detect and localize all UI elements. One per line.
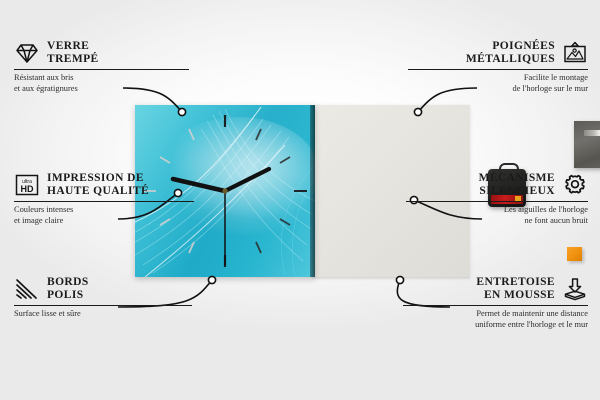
feature-description: Couleurs intenses et image claire: [14, 205, 194, 226]
feature-description: Facilite le montage de l'horloge sur le …: [408, 73, 588, 94]
feature-title: VERRE TREMPÉ: [47, 40, 99, 66]
foam-spacer-icon: [562, 277, 588, 301]
feature-bords-polis: BORDS POLIS Surface lisse et sûre: [14, 276, 192, 320]
feature-divider: [14, 201, 194, 202]
feature-divider: [403, 305, 588, 306]
feature-entretoise-en-mousse: ENTRETOISE EN MOUSSE Permet de maintenir…: [403, 276, 588, 330]
feature-title: POIGNÉES MÉTALLIQUES: [466, 40, 555, 66]
feature-divider: [14, 305, 192, 306]
feature-description: Surface lisse et sûre: [14, 309, 192, 319]
feature-heading-row: VERRE TREMPÉ: [14, 40, 189, 66]
feature-impression-haute-qualite: ultra HD IMPRESSION DE HAUTE QUALITÉ Cou…: [14, 172, 194, 226]
gear-icon: [562, 173, 588, 197]
svg-text:HD: HD: [21, 184, 34, 194]
feature-poignees-metalliques: POIGNÉES MÉTALLIQUES Facilite le montage…: [408, 40, 588, 94]
feature-description: Les aiguilles de l'horloge ne font aucun…: [406, 205, 588, 226]
ultra-hd-icon: ultra HD: [14, 173, 40, 197]
feature-heading-row: MÉCANISME SILENCIEUX: [406, 172, 588, 198]
feature-mecanisme-silencieux: MÉCANISME SILENCIEUX Les aiguilles de l'…: [406, 172, 588, 226]
feature-title: MÉCANISME SILENCIEUX: [479, 172, 555, 198]
feature-heading-row: POIGNÉES MÉTALLIQUES: [408, 40, 588, 66]
foam-spacer-pad: [567, 247, 582, 261]
connector-dot-bords: [208, 276, 215, 283]
feature-heading-row: BORDS POLIS: [14, 276, 192, 302]
feature-verre-trempe: VERRE TREMPÉ Résistant aux bris et aux é…: [14, 40, 189, 94]
feature-description: Permet de maintenir une distance uniform…: [403, 309, 588, 330]
metal-hanger-plate: [574, 121, 600, 168]
feature-description: Résistant aux bris et aux égratignures: [14, 73, 189, 94]
polished-edges-icon: [14, 277, 40, 301]
hanger-keyhole-slot: [584, 130, 600, 136]
feature-divider: [408, 69, 588, 70]
clock-polished-edge: [310, 105, 315, 277]
feature-heading-row: ultra HD IMPRESSION DE HAUTE QUALITÉ: [14, 172, 194, 198]
feature-title: BORDS POLIS: [47, 276, 89, 302]
feature-divider: [406, 201, 588, 202]
feature-heading-row: ENTRETOISE EN MOUSSE: [403, 276, 588, 302]
diamond-icon: [14, 41, 40, 65]
infographic-stage: VERRE TREMPÉ Résistant aux bris et aux é…: [0, 0, 600, 400]
feature-title: IMPRESSION DE HAUTE QUALITÉ: [47, 172, 149, 198]
picture-hanger-icon: [562, 41, 588, 65]
feature-divider: [14, 69, 189, 70]
feature-title: ENTRETOISE EN MOUSSE: [476, 276, 555, 302]
